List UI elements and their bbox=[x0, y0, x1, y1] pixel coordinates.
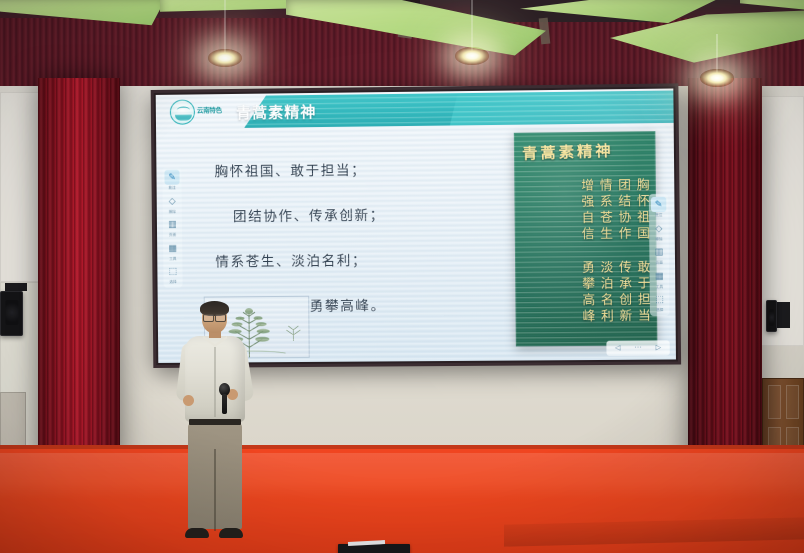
grid-glyph: ▦ bbox=[655, 271, 664, 280]
pen-label: 批注 bbox=[655, 214, 662, 218]
stage-floor-edge bbox=[504, 517, 804, 546]
pen-label: 批注 bbox=[169, 187, 176, 191]
calligraphy-column-2: 团结协作 传承创新 bbox=[616, 178, 631, 340]
wall-speaker-left bbox=[0, 291, 23, 336]
eraser-label: 擦除 bbox=[655, 238, 662, 242]
slide-title: 青蒿素精神 bbox=[236, 101, 317, 123]
wall-opening-left bbox=[0, 392, 26, 448]
microphone-body bbox=[222, 394, 227, 414]
stage-floor-sheen bbox=[0, 453, 804, 499]
lamp-bulb bbox=[455, 47, 489, 65]
pen-icon[interactable]: ✎ bbox=[164, 170, 179, 185]
wall-speaker-right bbox=[766, 300, 777, 332]
floor-object-highlight bbox=[348, 540, 386, 546]
slide-header-band-fade bbox=[450, 90, 676, 125]
calligraphy-column-4: 增强自信 勇攀高峰 bbox=[579, 178, 594, 340]
presenter-belt bbox=[189, 419, 241, 425]
floating-page-toolbar[interactable]: ◁ ⋯ ▷ bbox=[606, 340, 669, 356]
pendant-lamp-right bbox=[700, 34, 734, 78]
annotation-toolbar-left[interactable]: ✎ 批注 ◇ 擦除 ▥ 页面 ▦ 工具 ⬚ 选择 bbox=[162, 167, 182, 288]
calligraphy-columns: 胸怀祖国 敢于担当 团结协作 传承创新 情系苍生 淡泊名利 增强自信 勇攀高峰 bbox=[524, 178, 649, 341]
slide-line-3: 情系苍生、淡泊名利； bbox=[215, 248, 508, 271]
prev-page-icon[interactable]: ◁ bbox=[615, 345, 621, 352]
lamp-bulb bbox=[700, 69, 734, 87]
pendant-lamp-center bbox=[455, 0, 489, 56]
calligraphy-title: 青蒿素精神 bbox=[522, 140, 614, 164]
floor-object bbox=[338, 544, 410, 553]
eraser-icon[interactable]: ◇ bbox=[651, 221, 666, 236]
next-page-icon[interactable]: ▷ bbox=[656, 344, 662, 351]
grid-icon[interactable]: ▦ bbox=[652, 268, 667, 283]
pen-icon[interactable]: ✎ bbox=[651, 197, 666, 212]
menu-icon[interactable]: ⋯ bbox=[634, 345, 641, 352]
ceiling bbox=[0, 0, 804, 96]
select-label: 选择 bbox=[656, 309, 663, 313]
pen-glyph: ✎ bbox=[655, 200, 663, 209]
organization-logo: 云南特色 bbox=[170, 98, 226, 126]
presenter-shoe-left bbox=[185, 528, 209, 538]
pendant-lamp-left bbox=[208, 0, 242, 58]
grid-glyph: ▦ bbox=[168, 244, 177, 253]
presenter-hand-left bbox=[183, 395, 194, 406]
organization-logo-text: 云南特色 bbox=[197, 108, 222, 115]
stage-curtain-right bbox=[688, 78, 762, 486]
calligraphy-column-1: 胸怀祖国 敢于担当 bbox=[634, 178, 649, 340]
presenter-shirt-placket bbox=[214, 347, 216, 417]
page-glyph: ▥ bbox=[655, 248, 664, 257]
page-label: 页面 bbox=[655, 262, 662, 266]
select-icon[interactable]: ⬚ bbox=[165, 264, 180, 279]
slide-line-1: 胸怀祖国、敢于担当； bbox=[214, 157, 507, 180]
grid-label: 工具 bbox=[169, 258, 176, 262]
lamp-bulb bbox=[208, 49, 242, 67]
presenter-glasses bbox=[203, 314, 226, 320]
speaker-with-microphone bbox=[173, 303, 255, 541]
presenter-shoe-right bbox=[219, 528, 243, 538]
stage-floor bbox=[0, 445, 804, 553]
calligraphy-column-3: 情系苍生 淡泊名利 bbox=[597, 178, 612, 340]
presenter-trouser-seam bbox=[214, 449, 216, 531]
eraser-label: 擦除 bbox=[169, 210, 176, 214]
select-glyph: ⬚ bbox=[169, 267, 178, 276]
annotation-toolbar-right[interactable]: ✎ 批注 ◇ 擦除 ▥ 页面 ▦ 工具 ⬚ 选择 bbox=[649, 194, 670, 316]
page-icon[interactable]: ▥ bbox=[165, 217, 180, 232]
door-panel-top bbox=[768, 385, 781, 419]
organization-emblem bbox=[170, 99, 195, 124]
grid-label: 工具 bbox=[656, 286, 663, 290]
grid-icon[interactable]: ▦ bbox=[165, 241, 180, 256]
eraser-glyph: ◇ bbox=[655, 224, 662, 233]
door-panel-top-2 bbox=[786, 385, 799, 419]
select-glyph: ⬚ bbox=[655, 295, 664, 304]
page-icon[interactable]: ▥ bbox=[651, 244, 666, 259]
select-icon[interactable]: ⬚ bbox=[652, 292, 667, 307]
pen-glyph: ✎ bbox=[168, 173, 176, 182]
page-label: 页面 bbox=[169, 234, 176, 238]
lecture-hall-scene: 云南特色 青蒿素精神 胸怀祖国、敢于担当； 团结协作、传承创新； 情系苍生、淡泊… bbox=[0, 0, 804, 553]
eraser-icon[interactable]: ◇ bbox=[165, 193, 180, 208]
speaker-bracket-left bbox=[5, 283, 27, 291]
microphone-icon bbox=[220, 383, 229, 413]
eraser-glyph: ◇ bbox=[169, 196, 176, 205]
page-glyph: ▥ bbox=[168, 220, 177, 229]
calligraphy-panel: 青蒿素精神 胸怀祖国 敢于担当 团结协作 传承创新 情系苍生 淡泊名利 增强自信… bbox=[514, 131, 658, 346]
select-label: 选择 bbox=[169, 281, 176, 285]
stage-curtain-left bbox=[38, 78, 120, 488]
slide-line-2: 团结协作、传承创新； bbox=[233, 202, 508, 225]
